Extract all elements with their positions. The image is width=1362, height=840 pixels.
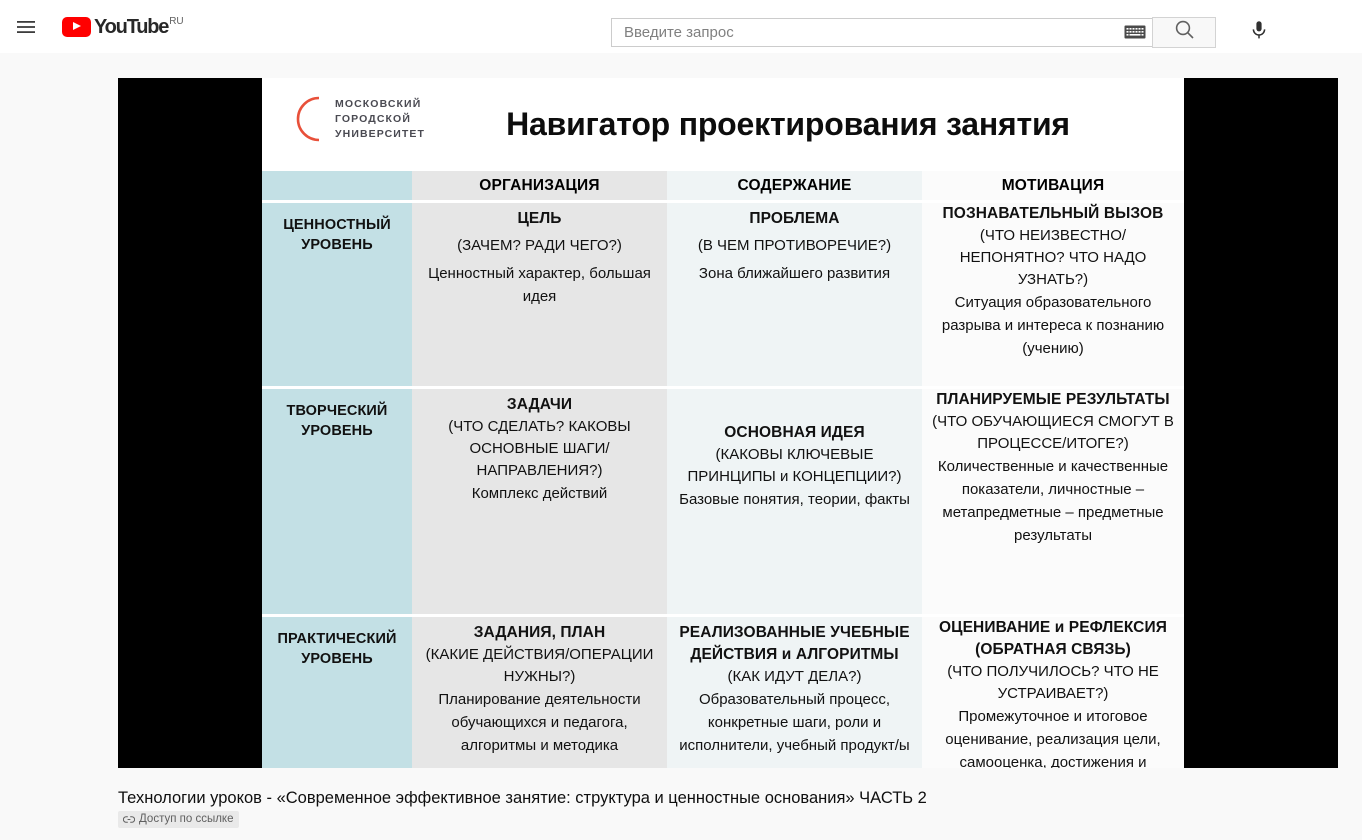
video-player[interactable]: МОСКОВСКИЙ ГОРОДСКОЙ УНИВЕРСИТЕТ Навигат… bbox=[118, 78, 1338, 768]
cell-title: РЕАЛИЗОВАННЫЕ УЧЕБНЫЕ ДЕЙСТВИЯ и АЛГОРИТ… bbox=[673, 617, 916, 666]
cell-title: ПЛАНИРУЕМЫЕ РЕЗУЛЬТАТЫ bbox=[928, 389, 1178, 411]
cell-value-motivation: ПЛАНИРУЕМЫЕ РЕЗУЛЬТАТЫ (ЧТО ОБУЧАЮЩИЕСЯ … bbox=[922, 386, 1184, 614]
cell-title: ЗАДАЧИ bbox=[418, 389, 661, 416]
cell-detail: Базовые понятия, теории, факты bbox=[673, 488, 916, 511]
grid-header-content: СОДЕРЖАНИЕ bbox=[667, 171, 922, 200]
masthead: YouTube RU bbox=[0, 0, 1362, 53]
video-slide: МОСКОВСКИЙ ГОРОДСКОЙ УНИВЕРСИТЕТ Навигат… bbox=[262, 78, 1184, 768]
slide-header: МОСКОВСКИЙ ГОРОДСКОЙ УНИВЕРСИТЕТ Навигат… bbox=[262, 78, 1184, 171]
cell-value-organization: ЗАДАЧИ (ЧТО СДЕЛАТЬ? КАКОВЫ ОСНОВНЫЕ ШАГ… bbox=[412, 386, 667, 614]
cell-question: (ЧТО ОБУЧАЮЩИЕСЯ СМОГУТ В ПРОЦЕССЕ/ИТОГЕ… bbox=[928, 411, 1178, 455]
youtube-logo[interactable]: YouTube RU bbox=[62, 15, 184, 39]
voice-search-button[interactable] bbox=[1239, 12, 1279, 52]
search-icon bbox=[1174, 19, 1195, 45]
cell-value-motivation: ПОЗНАВАТЕЛЬНЫЙ ВЫЗОВ (ЧТО НЕИЗВЕСТНО/ НЕ… bbox=[922, 200, 1184, 386]
cell-question: (ЧТО ПОЛУЧИЛОСЬ? ЧТО НЕ УСТРАИВАЕТ?) bbox=[928, 661, 1178, 705]
cell-detail: Образовательный процесс, конкретные шаги… bbox=[673, 688, 916, 757]
cell-detail: Промежуточное и итоговое оценивание, реа… bbox=[928, 705, 1178, 768]
slide-title: Навигатор проектирования занятия bbox=[262, 106, 1184, 143]
grid-header-organization: ОРГАНИЗАЦИЯ bbox=[412, 171, 667, 200]
cell-question: (В ЧЕМ ПРОТИВОРЕЧИЕ?) bbox=[673, 230, 916, 257]
cell-title: ЦЕЛЬ bbox=[418, 203, 661, 230]
cell-value-organization: ЗАДАНИЯ, ПЛАН (КАКИЕ ДЕЙСТВИЯ/ОПЕРАЦИИ Н… bbox=[412, 614, 667, 768]
cell-question: (КАКИЕ ДЕЙСТВИЯ/ОПЕРАЦИИ НУЖНЫ?) bbox=[418, 644, 661, 688]
status-badge-label: Доступ по ссылке bbox=[139, 813, 233, 825]
keyboard-icon[interactable] bbox=[1118, 18, 1152, 47]
level-label-value: ТВОРЧЕСКИЙ УРОВЕНЬ bbox=[262, 386, 412, 614]
cell-detail: Ситуация образовательного разрыва и инте… bbox=[928, 291, 1178, 360]
cell-detail: Планирование деятельности обучающихся и … bbox=[418, 688, 661, 757]
cell-value-content: ОСНОВНАЯ ИДЕЯ (КАКОВЫ КЛЮЧЕВЫЕ ПРИНЦИПЫ … bbox=[667, 386, 922, 614]
status-badge[interactable]: Доступ по ссылке bbox=[118, 811, 239, 828]
video-title[interactable]: Технологии уроков - «Современное эффекти… bbox=[118, 787, 1218, 809]
youtube-play-icon bbox=[62, 17, 91, 37]
cell-title: ПОЗНАВАТЕЛЬНЫЙ ВЫЗОВ bbox=[928, 203, 1178, 225]
youtube-logo-text: YouTube bbox=[94, 15, 168, 39]
cell-detail: Ценностный характер, большая идея bbox=[418, 257, 661, 308]
cell-question: (КАКОВЫ КЛЮЧЕВЫЕ ПРИНЦИПЫ и КОНЦЕПЦИИ?) bbox=[673, 444, 916, 488]
cell-title: ОЦЕНИВАНИЕ и РЕФЛЕКСИЯ (ОБРАТНАЯ СВЯЗЬ) bbox=[928, 617, 1178, 661]
youtube-country-code: RU bbox=[169, 16, 183, 27]
page-body: МОСКОВСКИЙ ГОРОДСКОЙ УНИВЕРСИТЕТ Навигат… bbox=[0, 53, 1362, 840]
grid-header-motivation: МОТИВАЦИЯ bbox=[922, 171, 1184, 200]
cell-question: (ЧТО СДЕЛАТЬ? КАКОВЫ ОСНОВНЫЕ ШАГИ/НАПРА… bbox=[418, 416, 661, 482]
cell-title: ЗАДАНИЯ, ПЛАН bbox=[418, 617, 661, 644]
search-box[interactable] bbox=[611, 18, 1153, 47]
cell-detail: Количественные и качественные показатели… bbox=[928, 455, 1178, 547]
search-submit-button[interactable] bbox=[1152, 17, 1216, 48]
navigator-grid: ОРГАНИЗАЦИЯ СОДЕРЖАНИЕ МОТИВАЦИЯ ЦЕННОСТ… bbox=[262, 171, 1184, 768]
cell-question: (КАК ИДУТ ДЕЛА?) bbox=[673, 666, 916, 688]
grid-header-blank bbox=[262, 171, 412, 200]
search-input[interactable] bbox=[622, 19, 1118, 46]
cell-title: ОСНОВНАЯ ИДЕЯ bbox=[673, 389, 916, 444]
cell-value-content: РЕАЛИЗОВАННЫЕ УЧЕБНЫЕ ДЕЙСТВИЯ и АЛГОРИТ… bbox=[667, 614, 922, 768]
level-label-value: ПРАКТИЧЕСКИЙ УРОВЕНЬ bbox=[262, 614, 412, 768]
hamburger-menu-icon bbox=[14, 15, 38, 39]
level-label-value: ЦЕННОСТНЫЙ УРОВЕНЬ bbox=[262, 200, 412, 386]
cell-detail: Комплекс действий bbox=[418, 482, 661, 505]
cell-value-motivation: ОЦЕНИВАНИЕ и РЕФЛЕКСИЯ (ОБРАТНАЯ СВЯЗЬ) … bbox=[922, 614, 1184, 768]
cell-value-content: ПРОБЛЕМА (В ЧЕМ ПРОТИВОРЕЧИЕ?) Зона ближ… bbox=[667, 200, 922, 386]
cell-title: ПРОБЛЕМА bbox=[673, 203, 916, 230]
cell-question: (ЗАЧЕМ? РАДИ ЧЕГО?) bbox=[418, 230, 661, 257]
link-icon bbox=[123, 815, 139, 824]
cell-detail: Зона ближайшего развития bbox=[673, 257, 916, 285]
search-area bbox=[611, 12, 1279, 52]
cell-value-organization: ЦЕЛЬ (ЗАЧЕМ? РАДИ ЧЕГО?) Ценностный хара… bbox=[412, 200, 667, 386]
cell-question: (ЧТО НЕИЗВЕСТНО/ НЕПОНЯТНО? ЧТО НАДО УЗН… bbox=[928, 225, 1178, 291]
microphone-icon bbox=[1248, 19, 1270, 46]
guide-menu-button[interactable] bbox=[6, 7, 46, 47]
